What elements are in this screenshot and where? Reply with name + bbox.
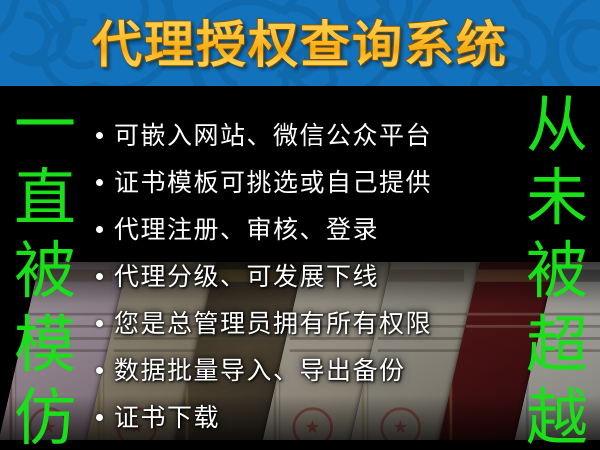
bullet-dot-icon xyxy=(96,132,103,139)
list-item: 证书模板可挑选或自己提供 xyxy=(96,159,496,206)
list-item: 代理注册、审核、登录 xyxy=(96,206,496,253)
left-slogan-char: 一 xyxy=(14,96,76,153)
left-slogan-char: 直 xyxy=(14,169,76,226)
feature-label: 代理分级、可发展下线 xyxy=(114,264,379,289)
list-item: 可嵌入网站、微信公众平台 xyxy=(96,112,496,159)
feature-list: 可嵌入网站、微信公众平台 证书模板可挑选或自己提供 代理注册、审核、登录 代理分… xyxy=(96,112,496,441)
list-item: 证书下载 xyxy=(96,394,496,441)
list-item: 数据批量导入、导出备份 xyxy=(96,347,496,394)
right-slogan-char: 从 xyxy=(526,96,588,153)
feature-label: 代理注册、审核、登录 xyxy=(114,217,379,242)
feature-label: 您是总管理员拥有所有权限 xyxy=(114,311,432,336)
right-slogan-char: 超 xyxy=(526,316,588,373)
certificate-strip-bottom-edge xyxy=(0,440,600,450)
bullet-dot-icon xyxy=(96,273,103,280)
right-slogan-char: 越 xyxy=(526,389,588,446)
right-slogan-char: 被 xyxy=(526,242,588,299)
poster-root: 代理授权查询系统 一 直 被 模 仿 从 未 被 超 越 可嵌入网站、微信公众平… xyxy=(0,0,600,450)
header-banner: 代理授权查询系统 xyxy=(0,0,600,86)
bullet-dot-icon xyxy=(96,179,103,186)
feature-label: 证书下载 xyxy=(114,405,220,430)
right-slogan-char: 未 xyxy=(526,169,588,226)
feature-label: 数据批量导入、导出备份 xyxy=(114,358,406,383)
bullet-dot-icon xyxy=(96,320,103,327)
list-item: 您是总管理员拥有所有权限 xyxy=(96,300,496,347)
left-slogan-char: 仿 xyxy=(14,389,76,446)
right-slogan-column: 从 未 被 超 越 xyxy=(518,96,596,446)
bullet-dot-icon xyxy=(96,414,103,421)
left-slogan-column: 一 直 被 模 仿 xyxy=(6,96,84,446)
list-item: 代理分级、可发展下线 xyxy=(96,253,496,300)
page-title: 代理授权查询系统 xyxy=(0,0,600,86)
feature-label: 证书模板可挑选或自己提供 xyxy=(114,170,432,195)
bullet-dot-icon xyxy=(96,367,103,374)
bullet-dot-icon xyxy=(96,226,103,233)
left-slogan-char: 模 xyxy=(14,316,76,373)
feature-label: 可嵌入网站、微信公众平台 xyxy=(114,123,432,148)
left-slogan-char: 被 xyxy=(14,242,76,299)
